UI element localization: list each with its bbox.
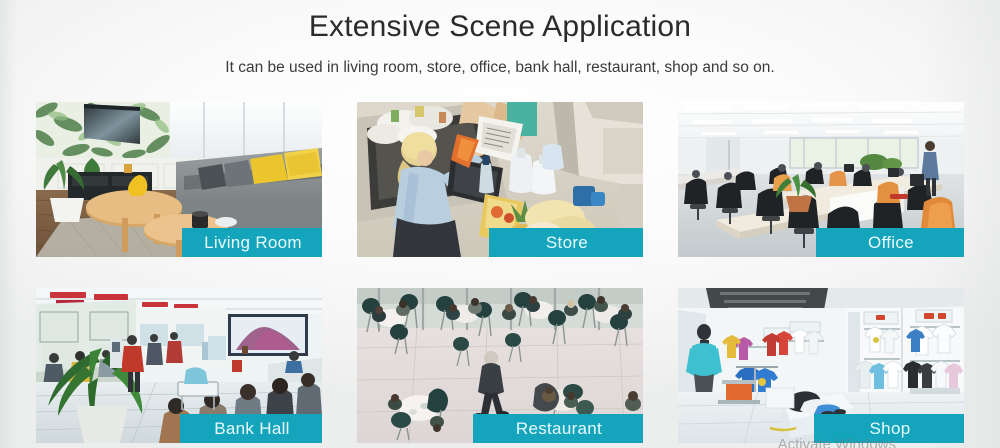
scene-card-living-room[interactable]: Living Room <box>36 102 322 257</box>
scene-caption-restaurant: Restaurant <box>473 414 643 443</box>
scene-caption-living-room: Living Room <box>182 228 322 257</box>
scene-caption-bank-hall: Bank Hall <box>180 414 322 443</box>
scene-card-shop[interactable]: Shop <box>678 288 964 443</box>
scene-card-bank-hall[interactable]: Bank Hall <box>36 288 322 443</box>
page-root: Extensive Scene Application It can be us… <box>0 0 1000 448</box>
scene-caption-store: Store <box>489 228 643 257</box>
scene-card-restaurant[interactable]: Restaurant <box>357 288 643 443</box>
page-header: Extensive Scene Application It can be us… <box>0 0 1000 79</box>
scene-card-store[interactable]: Store <box>357 102 643 257</box>
scene-card-office[interactable]: Office <box>678 102 964 257</box>
page-title: Extensive Scene Application <box>0 8 1000 46</box>
scene-card-grid: Living Room <box>36 102 964 443</box>
page-subtitle: It can be used in living room, store, of… <box>0 57 1000 79</box>
scene-caption-office: Office <box>816 228 964 257</box>
scene-caption-shop: Shop <box>814 414 964 443</box>
